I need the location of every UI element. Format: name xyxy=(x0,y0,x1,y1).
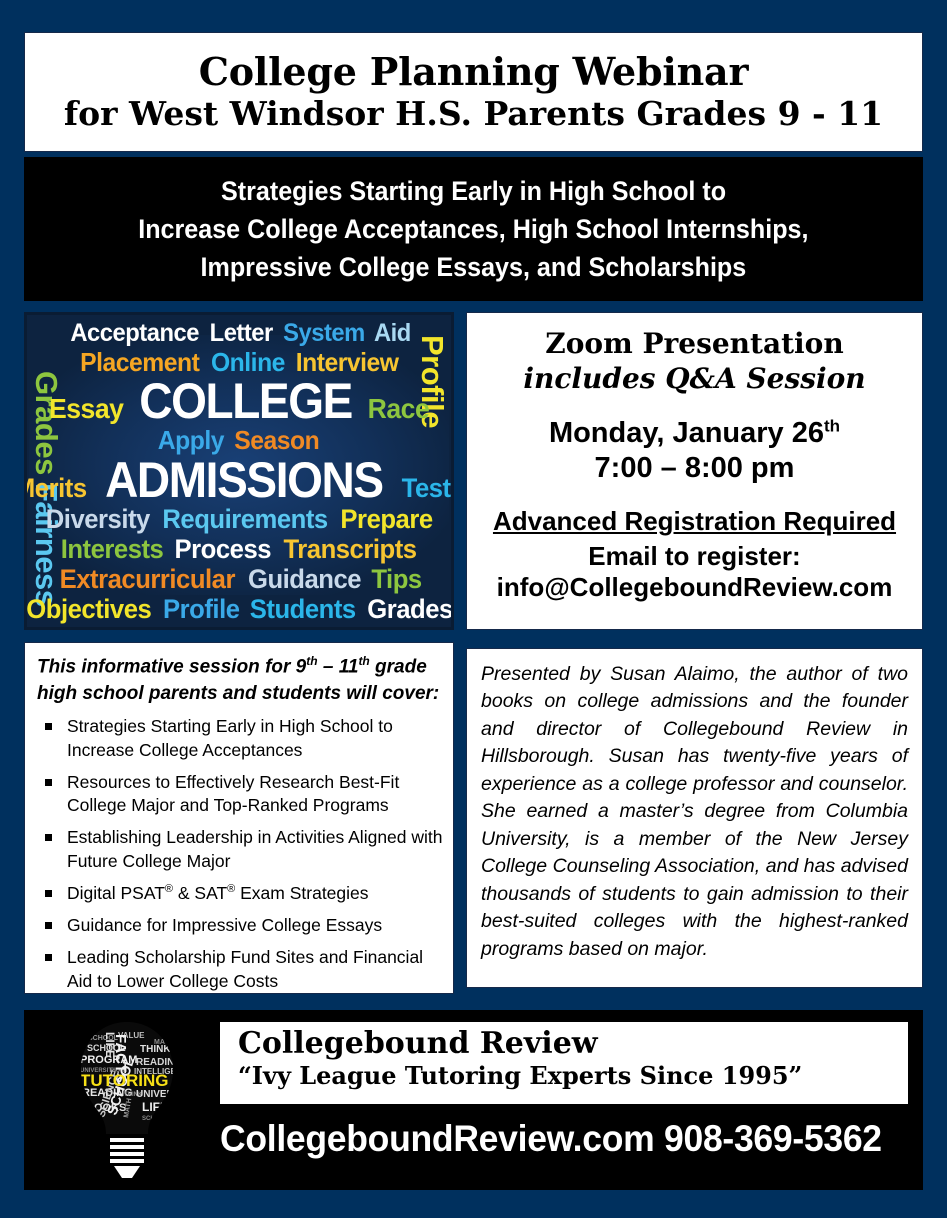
event-date: Monday, January 26th xyxy=(475,416,914,451)
lightbulb-logo-icon: SCHOOL VALUE MATH SCHOOL THINK PROGRAM R… xyxy=(66,1018,188,1186)
session-topics-heading-line-2: high school parents and students will co… xyxy=(37,681,443,708)
session-topic-item: Leading Scholarship Fund Sites and Finan… xyxy=(37,946,443,993)
word-cloud-rows: AcceptanceLetterSystemAidPlacementOnline… xyxy=(27,315,451,627)
word-cloud-word: Grades xyxy=(367,596,453,623)
session-topics-list: Strategies Starting Early in High School… xyxy=(37,715,443,993)
word-cloud-row: ObjectivesProfileStudentsGrades xyxy=(31,596,447,623)
word-cloud-word: Race xyxy=(368,395,430,423)
word-cloud-word: Process xyxy=(175,536,271,563)
word-cloud-center-college: COLLEGE xyxy=(139,378,352,424)
registration-note: Advanced Registration Required xyxy=(475,506,914,537)
word-cloud-word: Essay xyxy=(49,395,124,423)
subtitle-line-2: Increase College Acceptances, High Schoo… xyxy=(138,210,808,248)
word-cloud-word: System xyxy=(283,321,365,346)
event-time: 7:00 – 8:00 pm xyxy=(475,451,914,486)
svg-text:TUTORING: TUTORING xyxy=(80,1071,168,1090)
heading-part-1: This informative session for 9 xyxy=(37,656,306,677)
session-topic-item: Establishing Leadership in Activities Al… xyxy=(37,826,443,873)
presenter-bio-panel: Presented by Susan Alaimo, the author of… xyxy=(466,648,923,988)
session-topic-item: Digital PSAT® & SAT® Exam Strategies xyxy=(37,882,443,905)
word-cloud-panel: Grades Fairness Profile AcceptanceLetter… xyxy=(24,312,454,630)
word-cloud-word: Season xyxy=(234,427,319,453)
word-cloud-word: Merits xyxy=(24,475,86,502)
heading-part-2: – 11 xyxy=(318,656,359,677)
word-cloud-row: ApplySeason xyxy=(31,427,447,453)
word-cloud-word: Students xyxy=(250,596,356,623)
subtitle-banner: Strategies Starting Early in High School… xyxy=(24,157,923,301)
email-label: Email to register: xyxy=(475,541,914,572)
word-cloud-row: DiversityRequirementsPrepare xyxy=(31,506,447,533)
title-line-1: College Planning Webinar xyxy=(199,51,749,94)
word-cloud-word: Diversity xyxy=(45,506,149,533)
subtitle-line-3: Impressive College Essays, and Scholarsh… xyxy=(201,248,747,286)
subtitle-line-1: Strategies Starting Early in High School… xyxy=(221,172,726,210)
footer-contact[interactable]: CollegeboundReview.com 908-369-5362 xyxy=(220,1118,892,1160)
word-cloud-word: Interests xyxy=(61,536,164,563)
word-cloud-word: Extracurricular xyxy=(59,566,234,593)
word-cloud-word: Apply xyxy=(158,427,224,453)
word-cloud-word: Acceptance xyxy=(70,321,199,346)
event-date-suffix: th xyxy=(824,416,840,435)
word-cloud-word: Transcripts xyxy=(283,536,416,563)
word-cloud-row: ExtracurricularGuidanceTips xyxy=(31,566,447,593)
title-line-2: for West Windsor H.S. Parents Grades 9 -… xyxy=(64,95,883,133)
word-cloud-word: Aid xyxy=(373,321,410,346)
svg-text:UNIVERSITY: UNIVERSITY xyxy=(136,1089,188,1100)
word-cloud-word: Interview xyxy=(295,349,398,375)
heading-sup-2: th xyxy=(358,654,369,668)
svg-text:LIFE: LIFE xyxy=(142,1100,168,1114)
word-cloud-row: MeritsADMISSIONSTests xyxy=(31,457,447,503)
svg-text:THINK: THINK xyxy=(140,1044,171,1055)
word-cloud-word: Letter xyxy=(210,321,273,346)
session-topics-heading: This informative session for 9th – 11th … xyxy=(37,653,443,708)
flyer-page: College Planning Webinar for West Windso… xyxy=(0,0,947,1218)
session-topic-item: Guidance for Impressive College Essays xyxy=(37,914,443,937)
word-cloud-word: Tips xyxy=(372,566,422,593)
word-cloud-word: Tests xyxy=(402,475,454,502)
title-banner: College Planning Webinar for West Windso… xyxy=(24,32,923,152)
brand-block: Collegebound Review “Ivy League Tutoring… xyxy=(220,1022,908,1104)
session-topic-item: Resources to Effectively Research Best-F… xyxy=(37,771,443,818)
word-cloud-word: Placement xyxy=(80,349,199,375)
heading-part-3: grade xyxy=(370,656,427,677)
word-cloud-row: AcceptanceLetterSystemAid xyxy=(31,321,447,346)
word-cloud-center-admissions: ADMISSIONS xyxy=(105,457,383,503)
svg-text:LIFE: LIFE xyxy=(103,1032,117,1058)
footer-banner: SCHOOL VALUE MATH SCHOOL THINK PROGRAM R… xyxy=(24,1010,923,1190)
word-cloud-word: Objectives xyxy=(26,596,151,623)
word-cloud-word: Profile xyxy=(163,596,240,623)
word-cloud-row: EssayCOLLEGERace xyxy=(31,378,447,424)
zoom-presentation-subtitle: includes Q&A Session xyxy=(475,362,914,396)
word-cloud-word: Guidance xyxy=(248,566,361,593)
session-topic-item: Strategies Starting Early in High School… xyxy=(37,715,443,762)
svg-text:SCHOOL: SCHOOL xyxy=(142,1116,168,1122)
word-cloud-word: Online xyxy=(211,349,285,375)
word-cloud-row: PlacementOnlineInterview xyxy=(31,349,447,375)
word-cloud-word: Prepare xyxy=(341,506,433,533)
heading-sup-1: th xyxy=(306,654,317,668)
registration-email[interactable]: info@CollegeboundReview.com xyxy=(475,572,914,603)
word-cloud-word: Requirements xyxy=(163,506,328,533)
event-date-text: Monday, January 26 xyxy=(549,417,824,449)
zoom-presentation-title: Zoom Presentation xyxy=(475,327,914,360)
word-cloud-row: InterestsProcessTranscripts xyxy=(31,536,447,563)
brand-tagline: “Ivy League Tutoring Experts Since 1995” xyxy=(238,1062,908,1091)
presenter-bio-text: Presented by Susan Alaimo, the author of… xyxy=(481,661,908,963)
brand-name: Collegebound Review xyxy=(238,1026,908,1061)
zoom-presentation-panel: Zoom Presentation includes Q&A Session M… xyxy=(466,312,923,630)
session-topics-panel: This informative session for 9th – 11th … xyxy=(24,642,454,994)
